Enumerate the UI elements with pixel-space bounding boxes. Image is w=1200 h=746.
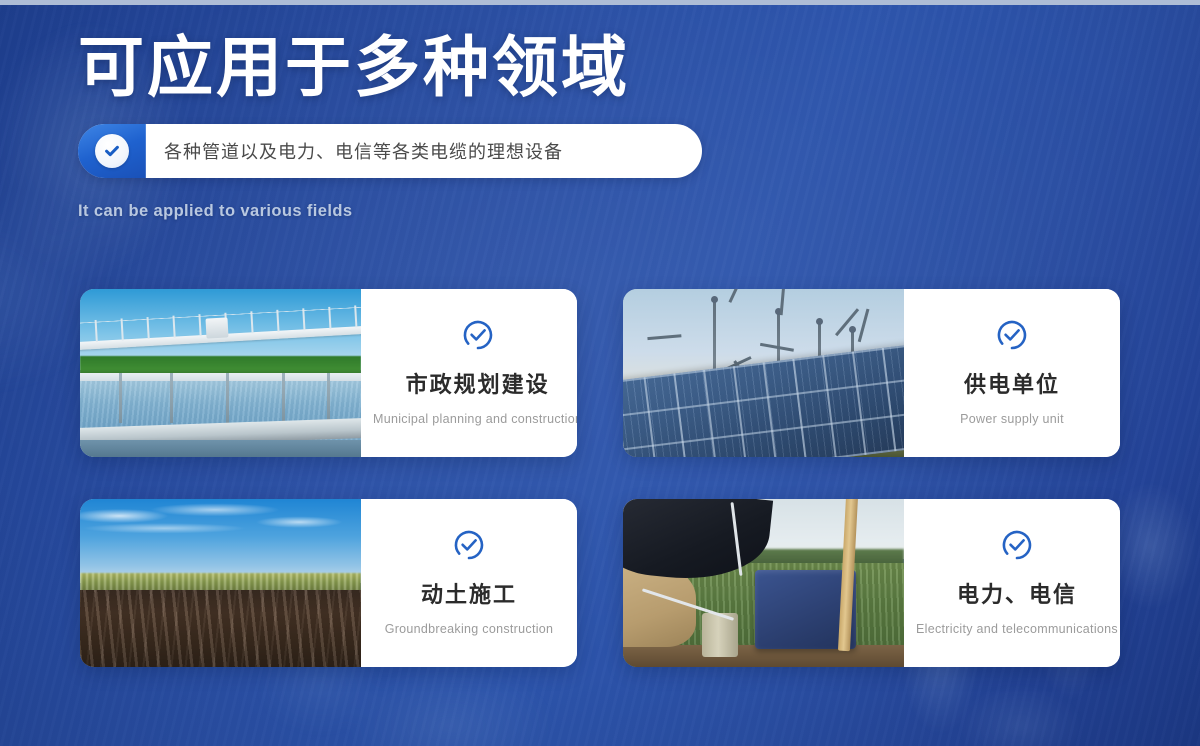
check-circle-outline-icon <box>459 316 497 354</box>
card-body: 动土施工 Groundbreaking construction <box>361 499 577 667</box>
field-card[interactable]: 动土施工 Groundbreaking construction <box>80 499 577 667</box>
card-photo-groundbreaking <box>80 499 361 667</box>
card-title: 电力、电信 <box>957 577 1077 609</box>
promo-banner: 可应用于多种领域 各种管道以及电力、电信等各类电缆的理想设备 It can be… <box>0 0 1200 746</box>
card-photo-electricity-telecom <box>623 499 904 667</box>
card-photo-power-supply <box>623 289 904 457</box>
pill-badge <box>78 124 146 178</box>
card-body: 市政规划建设 Municipal planning and constructi… <box>361 289 577 457</box>
field-card[interactable]: 电力、电信 Electricity and telecommunications <box>623 499 1120 667</box>
card-subtitle: Municipal planning and construction <box>373 412 577 426</box>
card-body: 供电单位 Power supply unit <box>904 289 1120 457</box>
check-circle-outline-icon <box>998 526 1036 564</box>
page-title: 可应用于多种领域 <box>78 36 778 102</box>
page-subtitle: It can be applied to various fields <box>78 202 778 221</box>
tagline-text: 各种管道以及电力、电信等各类电缆的理想设备 <box>146 138 563 164</box>
header-block: 可应用于多种领域 各种管道以及电力、电信等各类电缆的理想设备 It can be… <box>78 36 778 221</box>
check-circle-icon <box>95 134 129 168</box>
tagline-pill: 各种管道以及电力、电信等各类电缆的理想设备 <box>78 124 702 178</box>
card-body: 电力、电信 Electricity and telecommunications <box>904 499 1120 667</box>
top-edge-strip <box>0 0 1200 5</box>
card-title: 市政规划建设 <box>406 367 550 399</box>
card-subtitle: Electricity and telecommunications <box>916 622 1118 636</box>
card-photo-municipal <box>80 289 361 457</box>
check-circle-outline-icon <box>993 316 1031 354</box>
card-subtitle: Power supply unit <box>960 412 1064 426</box>
field-card[interactable]: 供电单位 Power supply unit <box>623 289 1120 457</box>
field-cards-grid: 市政规划建设 Municipal planning and constructi… <box>80 289 1120 667</box>
field-card[interactable]: 市政规划建设 Municipal planning and constructi… <box>80 289 577 457</box>
check-circle-outline-icon <box>450 526 488 564</box>
card-subtitle: Groundbreaking construction <box>385 622 554 636</box>
card-title: 供电单位 <box>964 367 1060 399</box>
card-title: 动土施工 <box>421 577 517 609</box>
